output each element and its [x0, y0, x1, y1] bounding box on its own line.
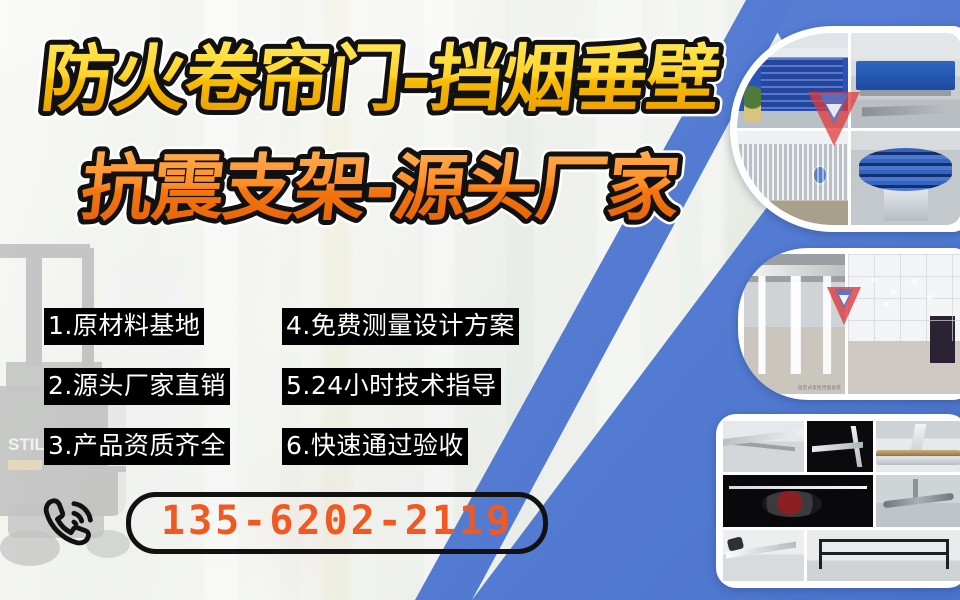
feature-item: 6.快速通过验收: [282, 416, 554, 476]
photo-large-fan-support: [876, 475, 960, 526]
fire-shutter-collage-panel: [730, 26, 960, 232]
smoke-barrier-collage-grid: 固定式柔性挡烟垂壁: [744, 254, 960, 394]
advertisement-banner: STILL: [0, 0, 960, 600]
photo-shutter-coil: [851, 131, 960, 226]
feature-label: 2.源头厂家直销: [44, 368, 230, 405]
photo-fan-mount: [723, 475, 873, 526]
photo-pipe-hanger: [723, 421, 804, 472]
phone-number-pill[interactable]: 135-6202-2119: [126, 492, 548, 554]
feature-label: 3.产品资质齐全: [44, 428, 230, 465]
feature-label: 5.24小时技术指导: [282, 368, 501, 405]
photo-pipe-clamp: [876, 421, 960, 472]
feature-item: 3.产品资质齐全: [44, 416, 282, 476]
headline-secondary: 抗震支架-源头厂家 抗震支架-源头厂家 抗震支架-源头厂家: [56, 146, 676, 232]
photo-production-machine: [851, 33, 960, 128]
headline-primary-text: 防火卷帘门-挡烟垂壁: [37, 37, 723, 122]
headline-secondary-text: 抗震支架-源头厂家: [77, 147, 683, 231]
photo-duct-brace: [807, 421, 873, 472]
feature-item: 2.源头厂家直销: [44, 356, 282, 416]
feature-item: 1.原材料基地: [44, 296, 282, 356]
seismic-bracket-collage-grid: [723, 421, 960, 581]
feature-list: 1.原材料基地 4.免费测量设计方案 2.源头厂家直销 5.24小时技术指导 3…: [44, 296, 554, 476]
photo-portal-frame: [807, 530, 960, 581]
photo-grey-fire-shutter: [737, 131, 848, 226]
feature-item: 5.24小时技术指导: [282, 356, 554, 416]
photo-caption: 固定式柔性挡烟垂壁: [798, 385, 841, 391]
photo-parking-garage-barrier: 固定式柔性挡烟垂壁: [744, 254, 845, 394]
feature-label: 1.原材料基地: [44, 308, 204, 345]
photo-ceiling-barrier: [848, 254, 960, 394]
feature-label: 6.快速通过验收: [282, 428, 468, 465]
contact-row[interactable]: 135-6202-2119: [40, 492, 548, 554]
seismic-bracket-collage-panel: [716, 414, 960, 588]
smoke-barrier-collage-panel: 固定式柔性挡烟垂壁: [738, 248, 960, 400]
fire-shutter-collage-grid: [737, 33, 960, 225]
feature-label: 4.免费测量设计方案: [282, 308, 519, 345]
photo-cable-tray-bracket: [723, 530, 804, 581]
phone-call-icon: [40, 492, 102, 554]
photo-blue-fire-shutter: [737, 33, 848, 128]
phone-number[interactable]: 135-6202-2119: [161, 498, 513, 544]
feature-item: 4.免费测量设计方案: [282, 296, 554, 356]
headline-primary: 防火卷帘门-挡烟垂壁 防火卷帘门-挡烟垂壁 防火卷帘门-挡烟垂壁: [12, 36, 702, 122]
